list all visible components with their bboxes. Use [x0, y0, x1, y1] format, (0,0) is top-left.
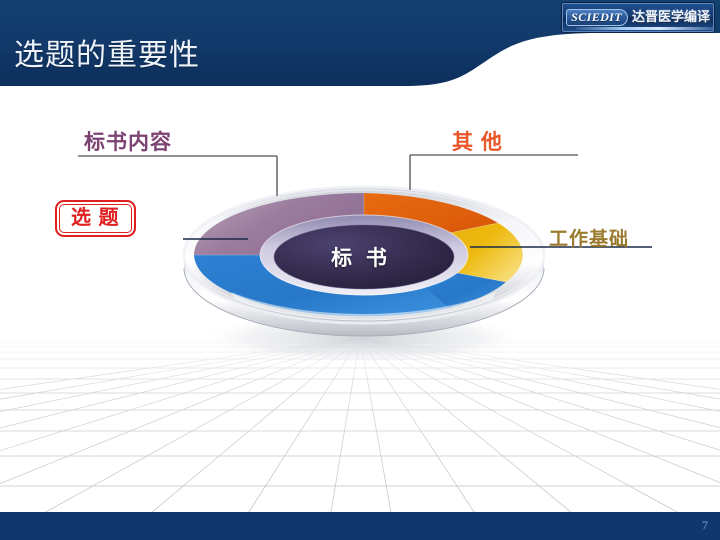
- label-content: 标书内容: [84, 126, 172, 156]
- page-title: 选题的重要性: [14, 30, 200, 74]
- logo-badge-text: SCIEDIT: [566, 9, 628, 26]
- donut-center-hub: [274, 225, 454, 289]
- page-number: 7: [702, 518, 708, 533]
- label-topic-box: 选 题: [55, 200, 136, 237]
- logo-company-name: 达晋医学编译: [632, 10, 710, 24]
- label-basis: 工作基础: [549, 224, 629, 251]
- donut-diagram: [176, 160, 546, 370]
- slide-footer: 7: [0, 512, 720, 540]
- label-other: 其 他: [452, 126, 503, 156]
- slide-canvas: 选题的重要性 SCIEDIT 达晋医学编译: [0, 0, 720, 540]
- logo-underline: [576, 27, 714, 30]
- label-topic: 选 题: [71, 207, 120, 229]
